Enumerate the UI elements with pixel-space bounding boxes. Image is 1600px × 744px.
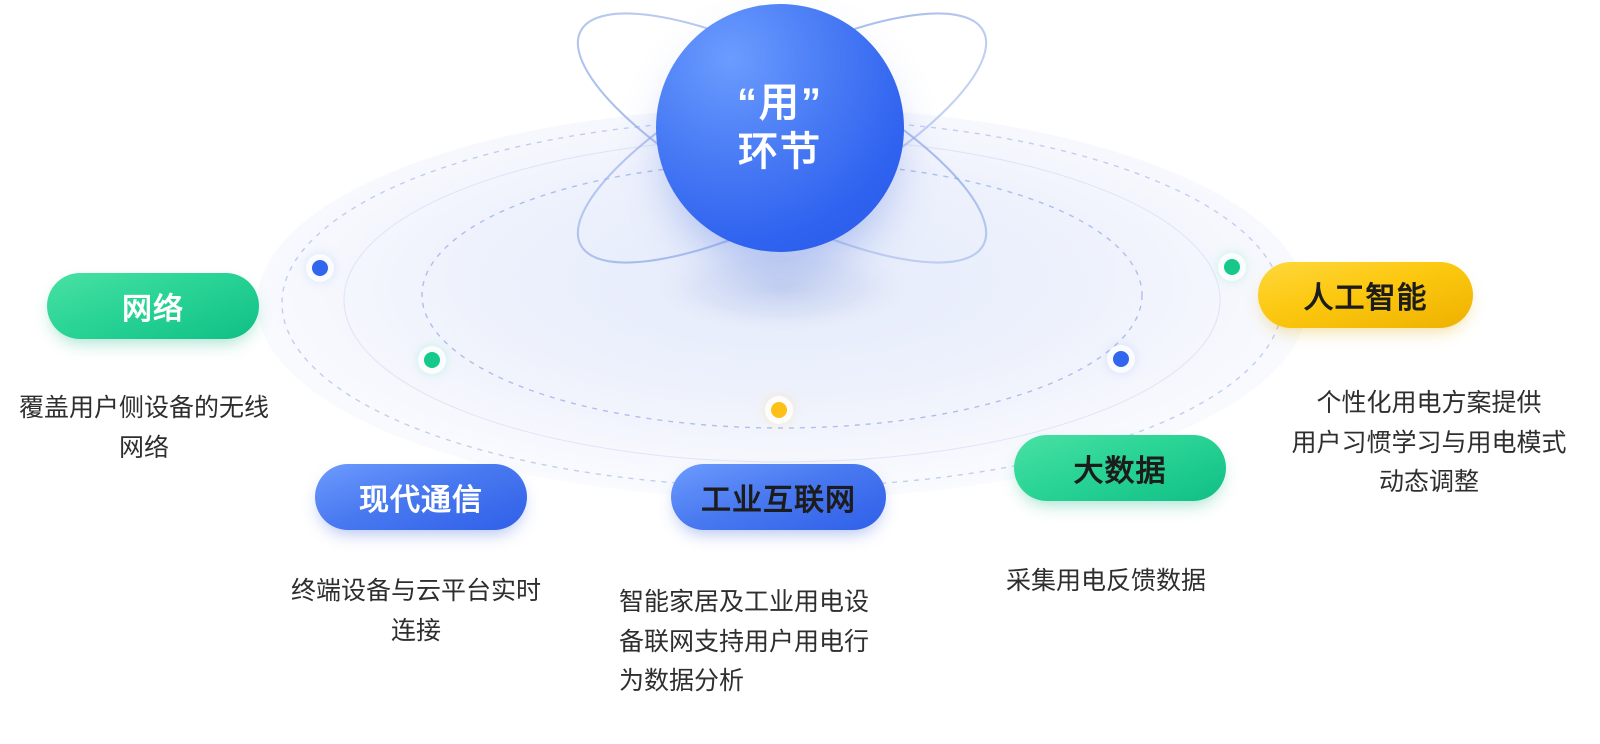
center-sphere[interactable]: “用” 环节 [656,4,904,252]
orbit-dot-green-right [1224,259,1240,275]
caption-line: 用户习惯学习与用电模式 [1258,424,1600,464]
pill-industrial-internet-label: 工业互联网 [701,475,856,519]
infographic-canvas: “用” 环节 网络 现代通信 工业互联网 大数据 人工智能 覆盖用户侧设备的无线… [0,0,1600,744]
caption-line: 采集用电反馈数据 [1006,562,1306,602]
orbit-dot-blue-right [1113,351,1129,367]
center-sphere-label-line2: 环节 [738,128,822,177]
caption-big-data: 采集用电反馈数据 [1006,562,1306,602]
orbit-dot-yellow-bottom [771,402,787,418]
orbit-dot-blue-left [312,260,328,276]
caption-line: 动态调整 [1258,463,1600,503]
caption-line: 智能家居及工业用电设 [619,583,919,623]
caption-line: 覆盖用户侧设备的无线 [0,389,294,429]
pill-network-label: 网络 [122,284,184,328]
pill-artificial-intelligence-label: 人工智能 [1304,273,1428,317]
center-sphere-label-line1: “用” [737,79,823,128]
orbit-dot-green-left [424,352,440,368]
caption-network: 覆盖用户侧设备的无线网络 [0,389,294,468]
pill-big-data[interactable]: 大数据 [1014,435,1226,501]
caption-line: 连接 [256,612,576,652]
caption-line: 终端设备与云平台实时 [256,572,576,612]
pill-industrial-internet[interactable]: 工业互联网 [671,464,886,530]
caption-industrial-internet: 智能家居及工业用电设备联网支持用户用电行为数据分析 [619,583,919,702]
pill-modern-communication-label: 现代通信 [359,475,483,519]
pill-big-data-label: 大数据 [1074,446,1167,490]
caption-line: 个性化用电方案提供 [1258,384,1600,424]
pill-network[interactable]: 网络 [47,273,259,339]
caption-line: 备联网支持用户用电行 [619,623,919,663]
caption-modern-communication: 终端设备与云平台实时连接 [256,572,576,651]
caption-artificial-intelligence: 个性化用电方案提供用户习惯学习与用电模式动态调整 [1258,384,1600,503]
pill-artificial-intelligence[interactable]: 人工智能 [1258,262,1473,328]
caption-line: 为数据分析 [619,662,919,702]
pill-modern-communication[interactable]: 现代通信 [315,464,527,530]
caption-line: 网络 [0,429,294,469]
